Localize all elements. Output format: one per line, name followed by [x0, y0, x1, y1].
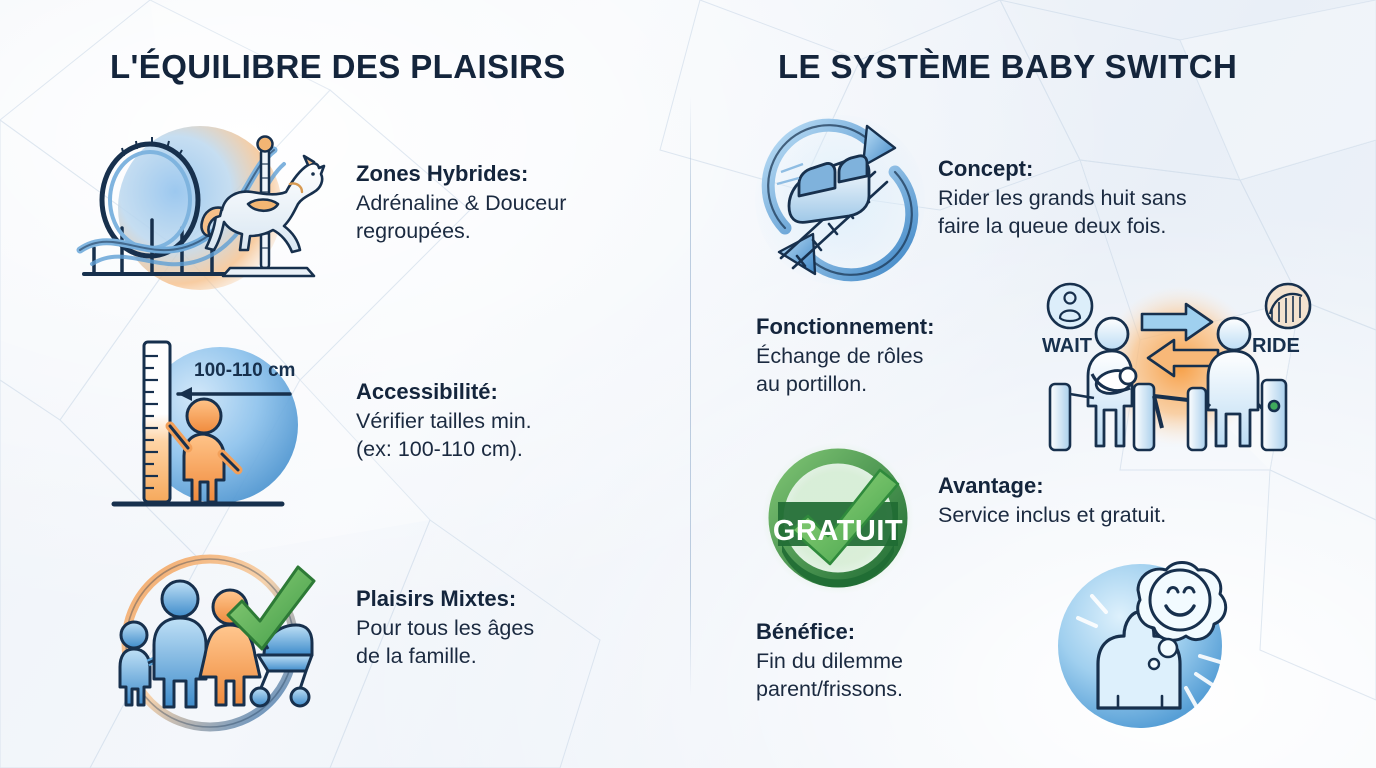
item-body-line2: de la famille.: [356, 642, 676, 670]
height-range-label: 100-110 cm: [194, 360, 295, 381]
column-title-left: L'ÉQUILIBRE DES PLAISIRS: [110, 48, 566, 86]
turnstile-swap-icon: WAIT RIDE: [1030, 278, 1330, 460]
column-baby-switch: LE SYSTÈME BABY SWITCH: [690, 0, 1376, 768]
item-body-line2: regroupées.: [356, 217, 676, 245]
item-text-fonctionnement: Fonctionnement: Échange de rôles au port…: [756, 313, 1056, 398]
column-equilibre: L'ÉQUILIBRE DES PLAISIRS: [0, 0, 690, 768]
item-body-line1: Vérifier tailles min.: [356, 407, 676, 435]
item-heading: Bénéfice:: [756, 618, 1056, 647]
ride-label: RIDE: [1252, 335, 1300, 357]
column-title-right: LE SYSTÈME BABY SWITCH: [778, 48, 1237, 86]
item-heading: Concept:: [938, 155, 1288, 184]
item-text-concept: Concept: Rider les grands huit sans fair…: [938, 155, 1288, 240]
gratuit-badge-icon: GRATUIT: [752, 440, 924, 600]
item-text-accessibilite: Accessibilité: Vérifier tailles min. (ex…: [356, 378, 676, 463]
happy-thought-icon: [1028, 550, 1258, 750]
item-body-line1: Échange de rôles: [756, 342, 1056, 370]
infographic-canvas: L'ÉQUILIBRE DES PLAISIRS: [0, 0, 1376, 768]
family-check-icon: [92, 545, 342, 740]
ride-badge: [1266, 284, 1310, 328]
item-text-zones-hybrides: Zones Hybrides: Adrénaline & Douceur reg…: [356, 160, 676, 245]
wait-badge: [1048, 284, 1092, 328]
item-heading: Fonctionnement:: [756, 313, 1056, 342]
item-body-line2: (ex: 100-110 cm).: [356, 435, 676, 463]
item-heading: Avantage:: [938, 472, 1288, 501]
rollercoaster-carousel-icon: [62, 108, 342, 308]
item-body-line2: au portillon.: [756, 370, 1056, 398]
item-text-plaisirs-mixtes: Plaisirs Mixtes: Pour tous les âges de l…: [356, 585, 676, 670]
height-ruler-child-icon: 100-110 cm: [92, 330, 332, 520]
coaster-swap-arrows-icon: [745, 110, 935, 290]
item-body-line2: parent/frissons.: [756, 675, 1056, 703]
item-heading: Plaisirs Mixtes:: [356, 585, 676, 614]
item-text-benefice: Bénéfice: Fin du dilemme parent/frissons…: [756, 618, 1056, 703]
item-body-line2: faire la queue deux fois.: [938, 212, 1288, 240]
item-body-line1: Adrénaline & Douceur: [356, 189, 676, 217]
gratuit-text: GRATUIT: [773, 515, 903, 547]
item-body-line1: Service inclus et gratuit.: [938, 501, 1288, 529]
item-text-avantage: Avantage: Service inclus et gratuit.: [938, 472, 1288, 529]
item-body-line1: Fin du dilemme: [756, 647, 1056, 675]
wait-label: WAIT: [1042, 335, 1092, 357]
item-heading: Accessibilité:: [356, 378, 676, 407]
item-heading: Zones Hybrides:: [356, 160, 676, 189]
item-body-line1: Pour tous les âges: [356, 614, 676, 642]
item-body-line1: Rider les grands huit sans: [938, 184, 1288, 212]
